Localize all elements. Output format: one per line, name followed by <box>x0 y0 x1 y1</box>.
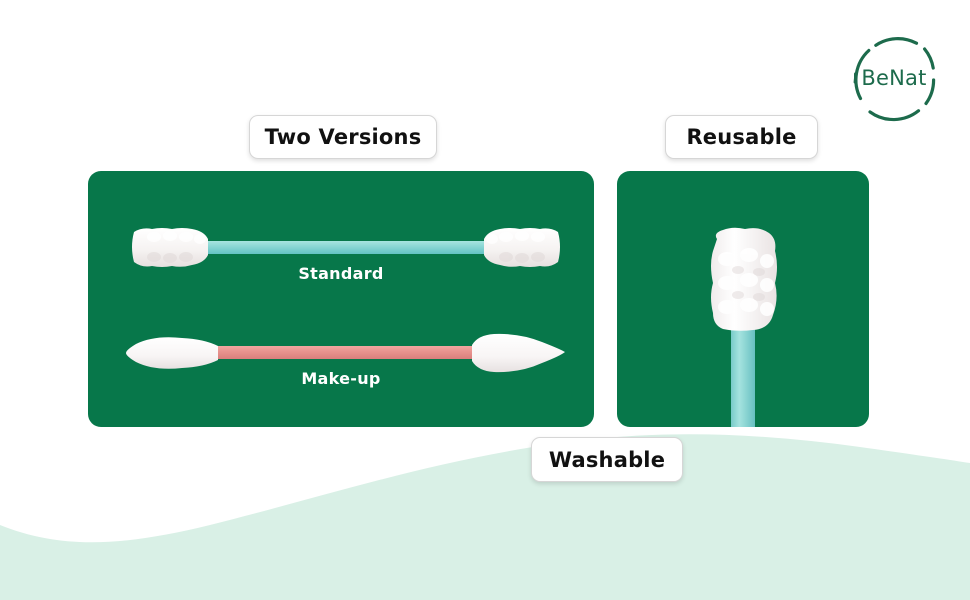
makeup-swab-caption: Make-up <box>88 369 594 388</box>
standard-swab-right-tip-icon <box>480 226 564 268</box>
label-two-versions: Two Versions <box>249 115 437 159</box>
product-feature-graphic: BeNat Two Versions Reusable Washable <box>0 0 970 600</box>
closeup-swab-image <box>693 225 797 427</box>
makeup-swab-stick <box>202 346 490 359</box>
standard-swab-stick <box>202 241 490 254</box>
mint-wave-decoration <box>0 425 970 600</box>
brand-logo: BeNat <box>838 22 950 134</box>
closeup-stick <box>731 325 755 427</box>
standard-swab-left-tip-icon <box>128 226 212 268</box>
two-versions-panel: Standard <box>88 171 594 427</box>
label-reusable: Reusable <box>665 115 818 159</box>
standard-swab-caption: Standard <box>88 264 594 283</box>
reusable-closeup-panel <box>617 171 869 427</box>
label-washable: Washable <box>531 437 683 482</box>
logo-wordmark: BeNat <box>838 22 950 134</box>
